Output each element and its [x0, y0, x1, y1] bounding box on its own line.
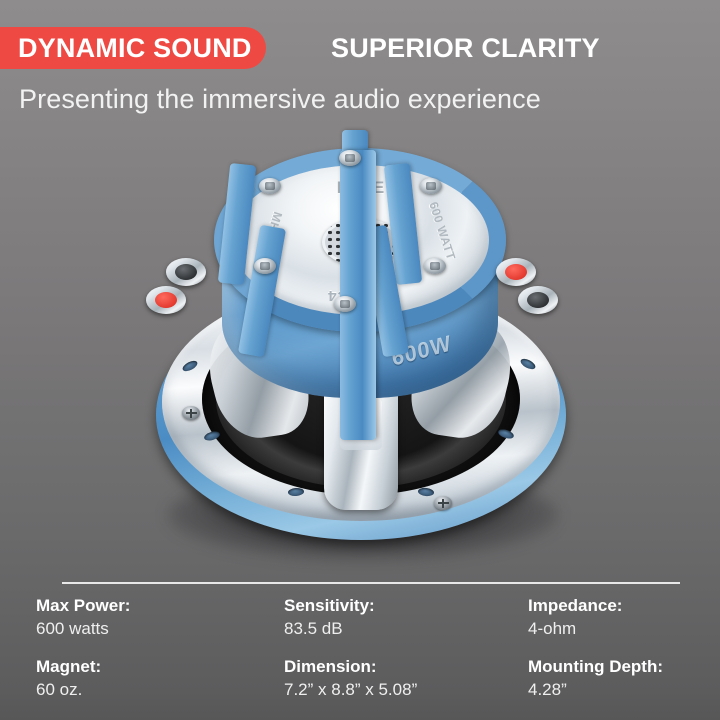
- subtitle: Presenting the immersive audio experienc…: [19, 82, 541, 116]
- backplate-screw: [254, 258, 276, 274]
- badge-label: DYNAMIC SOUND: [18, 35, 252, 62]
- spec-gutter: [0, 594, 36, 641]
- cage-front-center-arm: [340, 150, 376, 440]
- terminal-cap-red: [505, 264, 527, 280]
- backplate-screw: [334, 296, 356, 312]
- spec-value: 83.5 dB: [284, 617, 520, 641]
- spec-divider-line: [62, 582, 680, 584]
- dynamic-sound-badge: DYNAMIC SOUND: [0, 27, 266, 69]
- spec-value: 60 oz.: [36, 678, 276, 702]
- terminal-cap-red: [155, 292, 177, 308]
- marine-speaker-photo: 600W PYLE 600 WATT 4 OHM PLBMC4: [128, 140, 592, 560]
- terminal-post-positive-left: [146, 286, 186, 314]
- spec-label: Dimension:: [284, 655, 520, 678]
- terminal-post-negative-left: [166, 258, 206, 286]
- spec-label: Impedance:: [528, 594, 712, 617]
- terminal-cap-black: [527, 292, 549, 308]
- backplate-screw: [424, 258, 446, 274]
- spec-value: 600 watts: [36, 617, 276, 641]
- spec-impedance: Impedance: 4-ohm: [528, 594, 720, 641]
- backplate-screw: [420, 178, 442, 194]
- spec-value: 7.2” x 8.8” x 5.08”: [284, 678, 520, 702]
- product-infographic-page: DYNAMIC SOUND SUPERIOR CLARITY Presentin…: [0, 0, 720, 720]
- spec-label: Magnet:: [36, 655, 276, 678]
- spec-max-power: Max Power: 600 watts: [36, 594, 284, 641]
- terminal-post-positive-right: [496, 258, 536, 286]
- spec-label: Mounting Depth:: [528, 655, 712, 678]
- spec-table: Max Power: 600 watts Sensitivity: 83.5 d…: [0, 594, 720, 702]
- bezel-phillips-screw: [182, 406, 200, 420]
- spec-mounting-depth: Mounting Depth: 4.28”: [528, 655, 720, 702]
- terminal-cap-black: [175, 264, 197, 280]
- spec-gutter: [0, 655, 36, 702]
- spec-sensitivity: Sensitivity: 83.5 dB: [284, 594, 528, 641]
- headline-secondary: SUPERIOR CLARITY: [331, 30, 600, 66]
- product-image-stage: 600W PYLE 600 WATT 4 OHM PLBMC4: [0, 130, 720, 570]
- backplate-screw: [259, 178, 281, 194]
- spec-magnet: Magnet: 60 oz.: [36, 655, 284, 702]
- backplate-screw: [339, 150, 361, 166]
- terminal-post-negative-right: [518, 286, 558, 314]
- spec-label: Sensitivity:: [284, 594, 520, 617]
- spec-label: Max Power:: [36, 594, 276, 617]
- spec-value: 4.28”: [528, 678, 712, 702]
- spec-value: 4-ohm: [528, 617, 712, 641]
- bezel-phillips-screw: [434, 496, 452, 510]
- spec-dimension: Dimension: 7.2” x 8.8” x 5.08”: [284, 655, 528, 702]
